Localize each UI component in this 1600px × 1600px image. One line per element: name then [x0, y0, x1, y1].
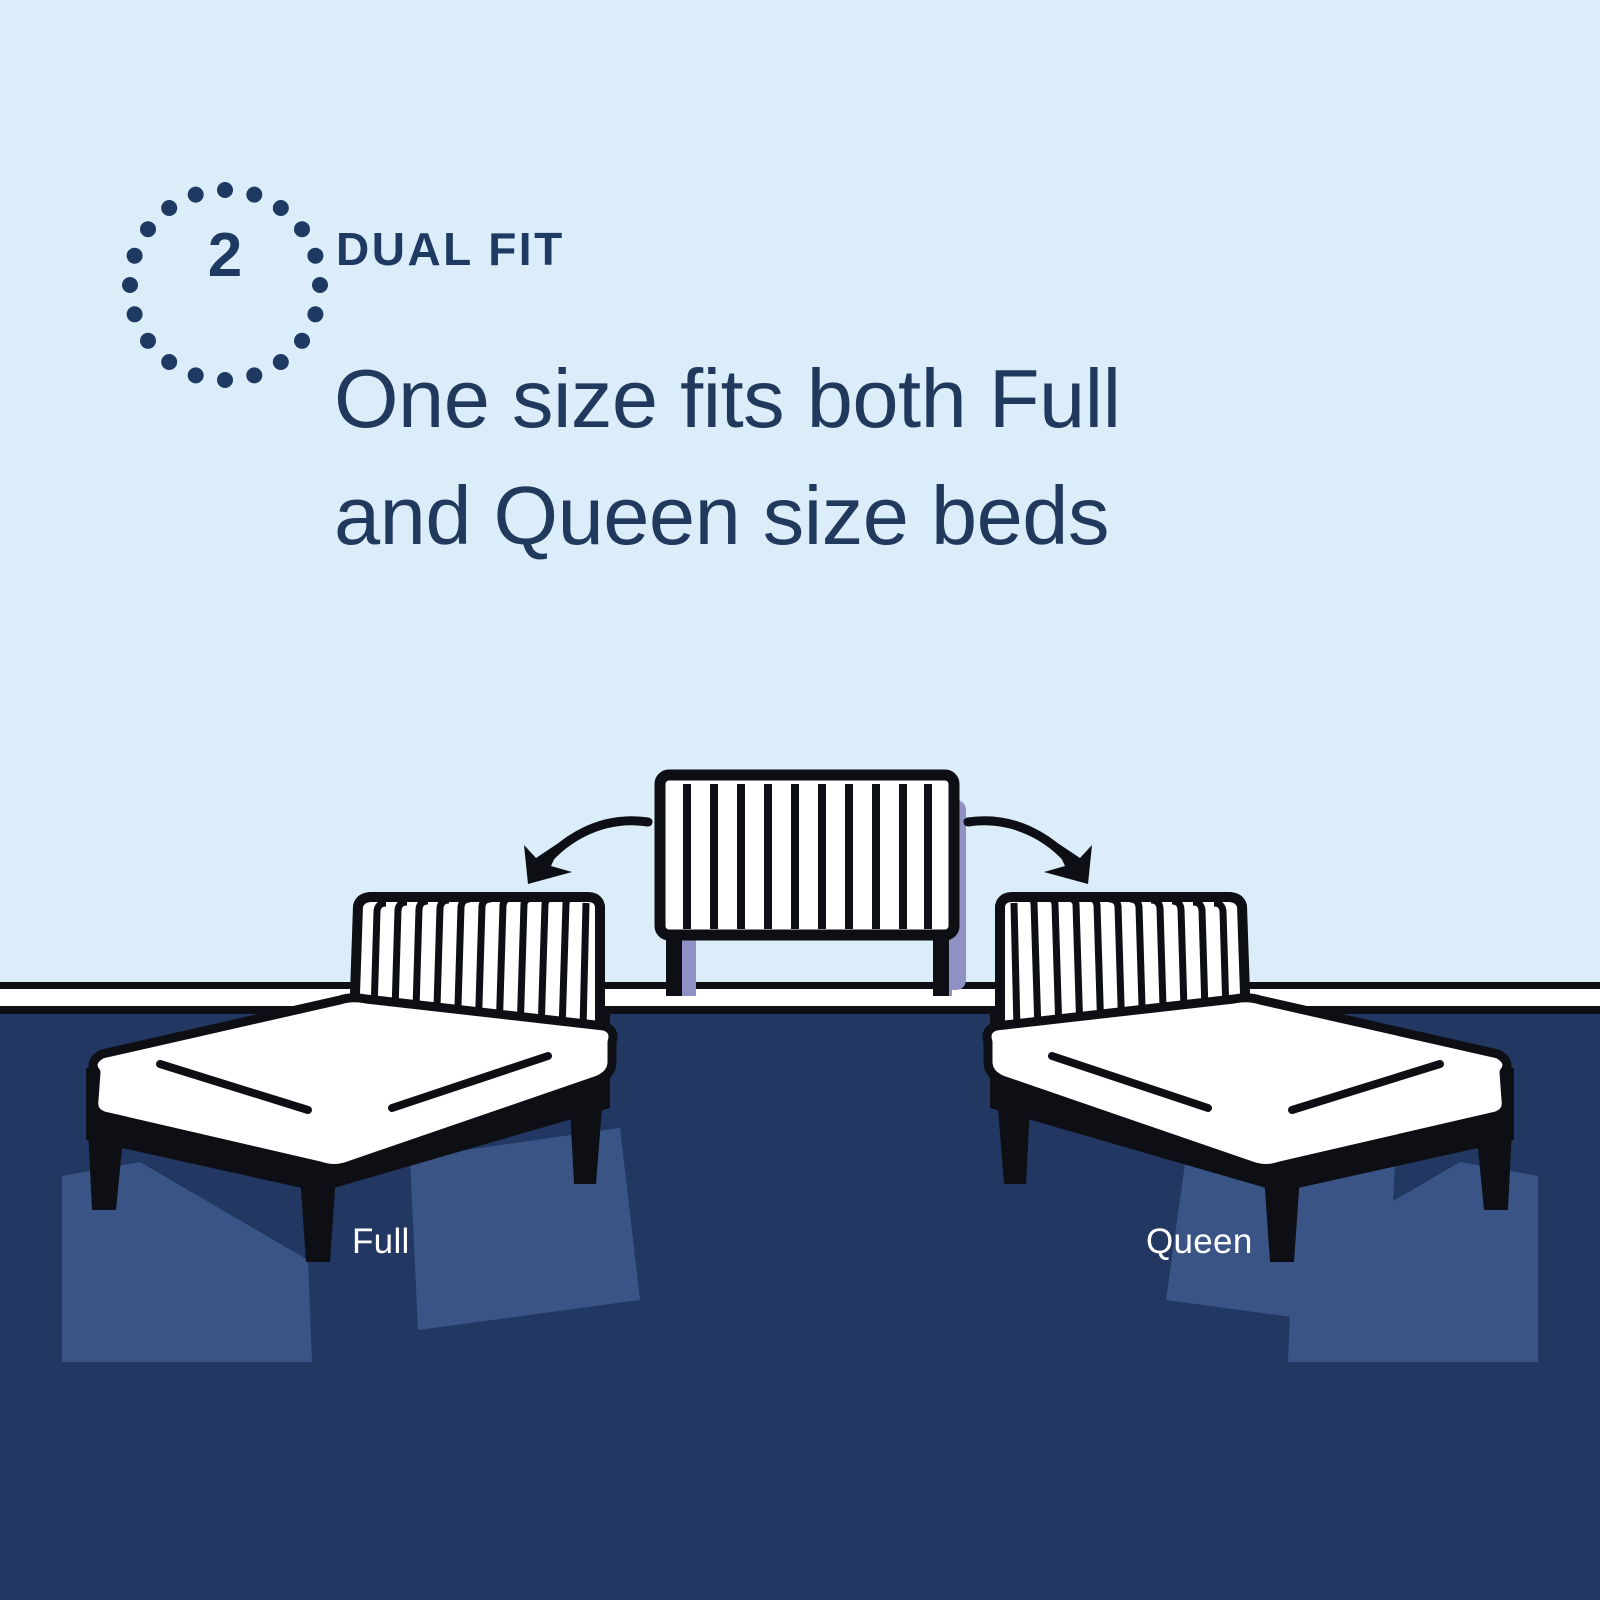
headboard-panel [660, 775, 954, 935]
infographic-canvas: 2 DUAL FIT One size fits both Full and Q… [0, 0, 1600, 1600]
baseboard-bottom-line [0, 1006, 1600, 1014]
headboard-leg-shadow-left [682, 940, 696, 996]
bed-label-queen: Queen [1146, 1222, 1253, 1262]
illustration-artboard [0, 0, 1600, 1600]
bed-label-full: Full [352, 1222, 410, 1262]
baseboard-top-line [0, 982, 1600, 989]
floor-shadow-left-wide [410, 1128, 640, 1330]
